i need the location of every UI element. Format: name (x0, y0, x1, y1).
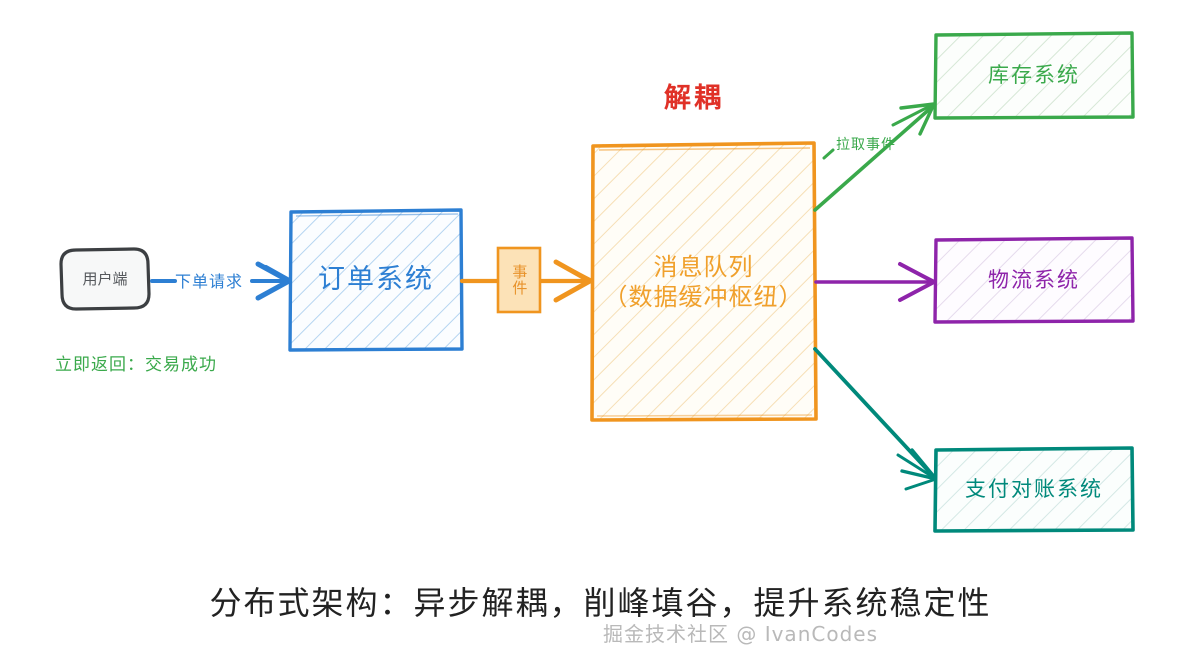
client-node[interactable] (61, 249, 149, 309)
payment-recon-system-node[interactable] (935, 448, 1133, 531)
inventory-system-node[interactable] (935, 33, 1133, 118)
diagram-shapes-layer (0, 0, 1201, 662)
edge-to-logistics (816, 264, 935, 300)
order-system-node[interactable] (290, 210, 462, 350)
decouple-title: 解耦 (664, 76, 724, 115)
edge-label-immediate-return: 立即返回：交易成功 (55, 350, 217, 375)
watermark: 掘金技术社区 @ IvanCodes (0, 618, 1201, 647)
event-node[interactable] (498, 248, 540, 312)
logistics-system-node[interactable] (935, 238, 1133, 322)
edge-label-order-request: 下单请求 (175, 268, 243, 292)
diagram-canvas: 用户端 订单系统 事件 消息队列 （数据缓冲枢纽） 库存系统 物流系统 支付对账… (0, 0, 1201, 662)
message-queue-node[interactable] (592, 143, 816, 420)
edge-to-payment (815, 349, 936, 489)
edge-pull-event (815, 104, 934, 210)
edge-label-pull-event: 拉取事件 (836, 134, 896, 154)
